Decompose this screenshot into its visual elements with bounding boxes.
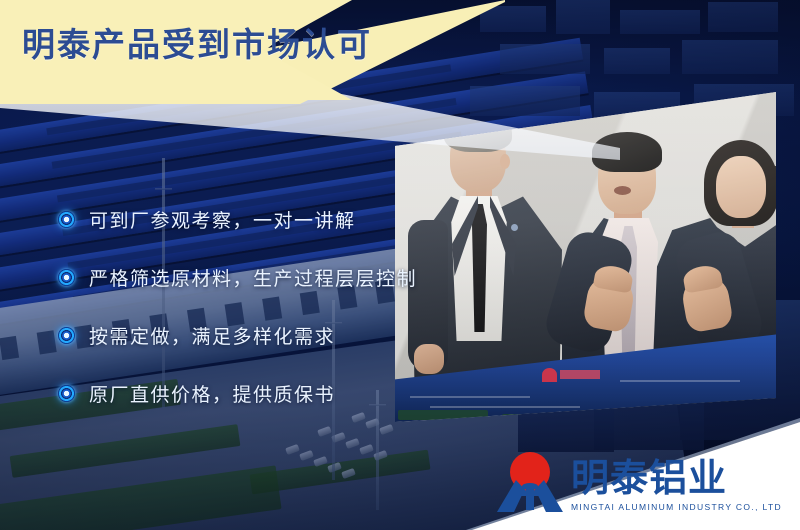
target-dot-icon	[58, 327, 75, 344]
target-dot-icon	[58, 385, 75, 402]
target-dot-icon	[58, 269, 75, 286]
logo-english-name: MINGTAI ALUMINUM INDUSTRY CO., LTD	[571, 502, 782, 512]
promo-banner: 明泰产品受到市场认可 可到厂参观考察，一对一讲解 严格筛选原材料，生产过程层层控…	[0, 0, 800, 530]
logo-chinese-name: 明泰铝业	[571, 459, 782, 497]
target-dot-icon	[58, 211, 75, 228]
list-item-label: 原厂直供价格，提供质保书	[89, 380, 335, 407]
list-item: 按需定做，满足多样化需求	[58, 322, 398, 349]
feature-list: 可到厂参观考察，一对一讲解 严格筛选原材料，生产过程层层控制 按需定做，满足多样…	[58, 206, 398, 438]
company-logo: 明泰铝业 MINGTAI ALUMINUM INDUSTRY CO., LTD	[497, 452, 782, 512]
list-item: 可到厂参观考察，一对一讲解	[58, 206, 398, 233]
list-item: 原厂直供价格，提供质保书	[58, 380, 398, 407]
list-item-label: 可到厂参观考察，一对一讲解	[89, 206, 356, 233]
list-item: 严格筛选原材料，生产过程层层控制	[58, 264, 398, 291]
list-item-label: 严格筛选原材料，生产过程层层控制	[89, 264, 417, 291]
mingtai-sun-mountain-icon	[497, 452, 563, 512]
list-item-label: 按需定做，满足多样化需求	[89, 322, 335, 349]
page-title: 明泰产品受到市场认可	[22, 24, 372, 65]
